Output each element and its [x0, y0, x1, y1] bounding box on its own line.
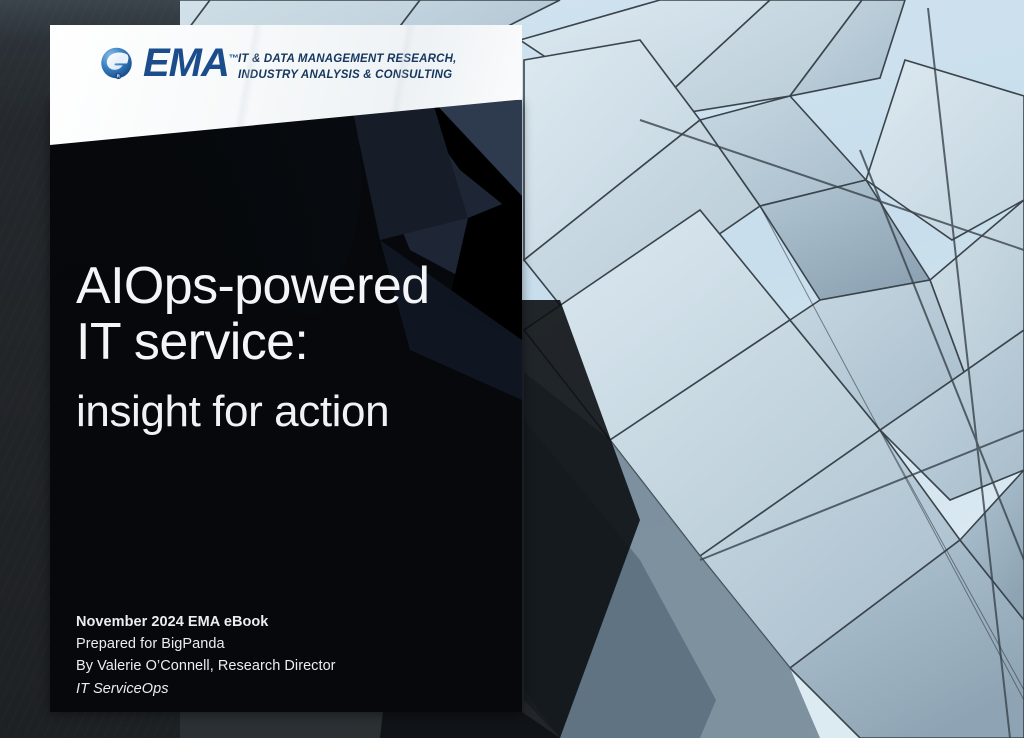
cover-credits: November 2024 EMA eBook Prepared for Big… — [76, 611, 336, 700]
credit-author: By Valerie O’Connell, Research Director — [76, 655, 336, 677]
page-subtitle: insight for action — [76, 388, 506, 436]
ema-logo: R EMA™ — [98, 43, 239, 83]
page-title: AIOps-powered IT service: — [76, 258, 506, 370]
cover-title-block: AIOps-powered IT service: insight for ac… — [76, 258, 506, 436]
ema-swoosh-e-logo-icon: R — [98, 45, 135, 82]
cover-card-content: AIOps-powered IT service: insight for ac… — [50, 100, 522, 712]
svg-text:R: R — [117, 73, 120, 78]
ema-tagline: IT & DATA MANAGEMENT RESEARCH, INDUSTRY … — [238, 51, 457, 84]
cover-card: AIOps-powered IT service: insight for ac… — [50, 100, 522, 712]
credit-sponsor: Prepared for BigPanda — [76, 633, 336, 655]
ema-wordmark: EMA™ — [143, 43, 239, 83]
credit-practice-area: IT ServiceOps — [76, 678, 336, 700]
ema-wordmark-text: EMA — [143, 41, 229, 85]
ebook-cover-page: AIOps-powered IT service: insight for ac… — [0, 0, 1024, 738]
credit-publication: November 2024 EMA eBook — [76, 611, 336, 633]
